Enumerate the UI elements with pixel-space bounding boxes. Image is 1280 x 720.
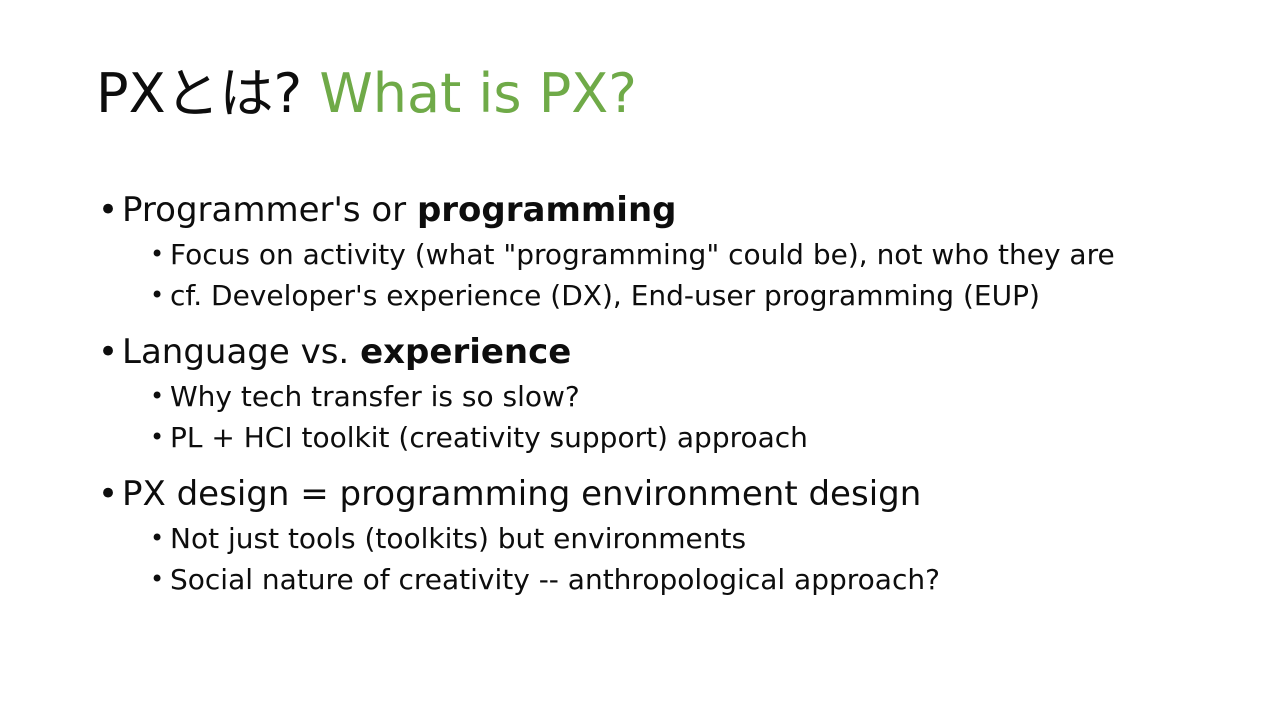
bullet-level2-text: Why tech transfer is so slow? [170, 380, 580, 413]
bullet-group: •PX design = programming environment des… [96, 470, 1216, 600]
bullet-dot-icon: • [150, 376, 170, 417]
bullet-level2: •Social nature of creativity -- anthropo… [150, 559, 1216, 600]
bullet-group: •Programmer's or programming •Focus on a… [96, 186, 1216, 316]
bullet-level2: •Focus on activity (what "programming" c… [150, 234, 1216, 275]
sub-bullet-list: •Not just tools (toolkits) but environme… [96, 518, 1216, 600]
bullet-level1-text: PX design = programming environment desi… [122, 474, 921, 514]
bullet-dot-icon: • [98, 186, 124, 234]
bullet-level2: •Why tech transfer is so slow? [150, 376, 1216, 417]
bullet-dot-icon: • [150, 275, 170, 316]
bullet-dot-icon: • [98, 328, 124, 376]
bullet-level2-text: Not just tools (toolkits) but environmen… [170, 522, 746, 555]
bullet-dot-icon: • [150, 518, 170, 559]
sub-bullet-list: •Why tech transfer is so slow? •PL + HCI… [96, 376, 1216, 458]
bullet-dot-icon: • [150, 417, 170, 458]
bullet-group: •Language vs. experience •Why tech trans… [96, 328, 1216, 458]
slide-title: PXとは? What is PX? [96, 62, 1196, 126]
bullet-level2: •cf. Developer's experience (DX), End-us… [150, 275, 1216, 316]
bullet-level2-text: Focus on activity (what "programming" co… [170, 238, 1115, 271]
bullet-dot-icon: • [150, 234, 170, 275]
bullet-dot-icon: • [98, 470, 124, 518]
bullet-level2: •PL + HCI toolkit (creativity support) a… [150, 417, 1216, 458]
bullet-level2-text: Social nature of creativity -- anthropol… [170, 563, 940, 596]
presentation-slide: PXとは? What is PX? •Programmer's or progr… [0, 0, 1280, 720]
bullet-level1: •PX design = programming environment des… [96, 470, 1216, 518]
bullet-level2: •Not just tools (toolkits) but environme… [150, 518, 1216, 559]
bullet-level2-text: PL + HCI toolkit (creativity support) ap… [170, 421, 808, 454]
slide-body: •Programmer's or programming •Focus on a… [96, 186, 1216, 600]
bullet-level1-emphasis: programming [417, 190, 677, 230]
slide-title-japanese: PXとは? [96, 62, 302, 125]
sub-bullet-list: •Focus on activity (what "programming" c… [96, 234, 1216, 316]
bullet-level2-text: cf. Developer's experience (DX), End-use… [170, 279, 1040, 312]
bullet-level1-text: Programmer's or [122, 190, 417, 230]
bullet-level1-text: Language vs. [122, 332, 360, 372]
bullet-level1-emphasis: experience [360, 332, 571, 372]
bullet-level1: •Language vs. experience [96, 328, 1216, 376]
bullet-dot-icon: • [150, 559, 170, 600]
bullet-level1: •Programmer's or programming [96, 186, 1216, 234]
slide-title-english: What is PX? [302, 62, 637, 125]
